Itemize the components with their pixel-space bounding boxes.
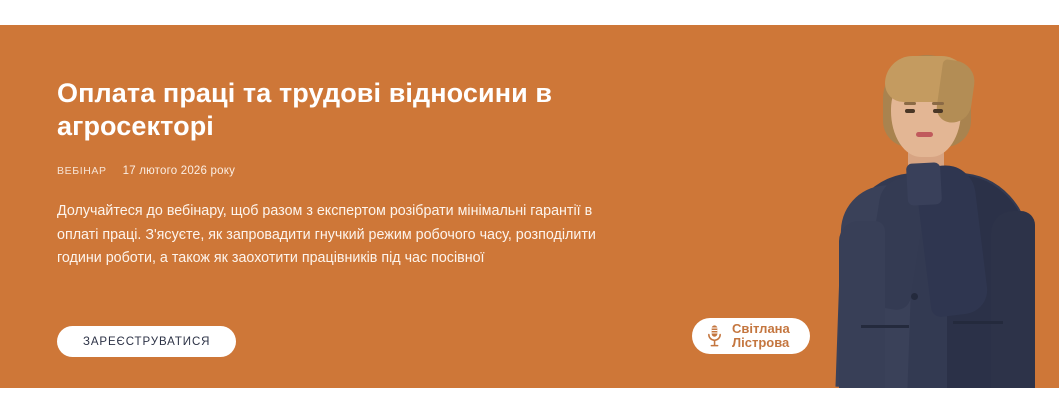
speaker-name: Світлана Лістрова [732, 322, 790, 351]
banner-description: Долучайтеся до вебінару, щоб разом з екс… [57, 200, 623, 271]
eye-left [905, 109, 915, 113]
speaker-badge: Світлана Лістрова [692, 318, 810, 354]
mouth-shape [916, 132, 933, 137]
microphone-icon [706, 324, 723, 348]
event-type-label: ВЕБІНАР [57, 165, 107, 177]
speaker-photo [815, 25, 1059, 388]
banner-title: Оплата праці та трудові відносини в агро… [57, 77, 627, 143]
register-button[interactable]: ЗАРЕЄСТРУВАТИСЯ [57, 326, 236, 357]
eyebrow-right [932, 102, 944, 105]
blazer-pocket-left [861, 325, 909, 328]
blazer-button [911, 293, 918, 300]
banner-content: Оплата праці та трудові відносини в агро… [57, 25, 677, 388]
event-date: 17 лютого 2026 року [123, 165, 235, 177]
speaker-photo-illustration [815, 25, 1059, 388]
webinar-banner: Оплата праці та трудові відносини в агро… [0, 25, 1059, 388]
eyebrow-left [904, 102, 916, 105]
blazer-pocket-right [953, 321, 1003, 324]
blazer-arm-right [991, 211, 1035, 388]
eye-right [933, 109, 943, 113]
banner-meta: ВЕБІНАР 17 лютого 2026 року [57, 165, 235, 177]
blazer-collar [906, 162, 942, 206]
blazer-arm-left [839, 221, 885, 388]
webinar-promo-page: Оплата праці та трудові відносини в агро… [0, 0, 1059, 415]
